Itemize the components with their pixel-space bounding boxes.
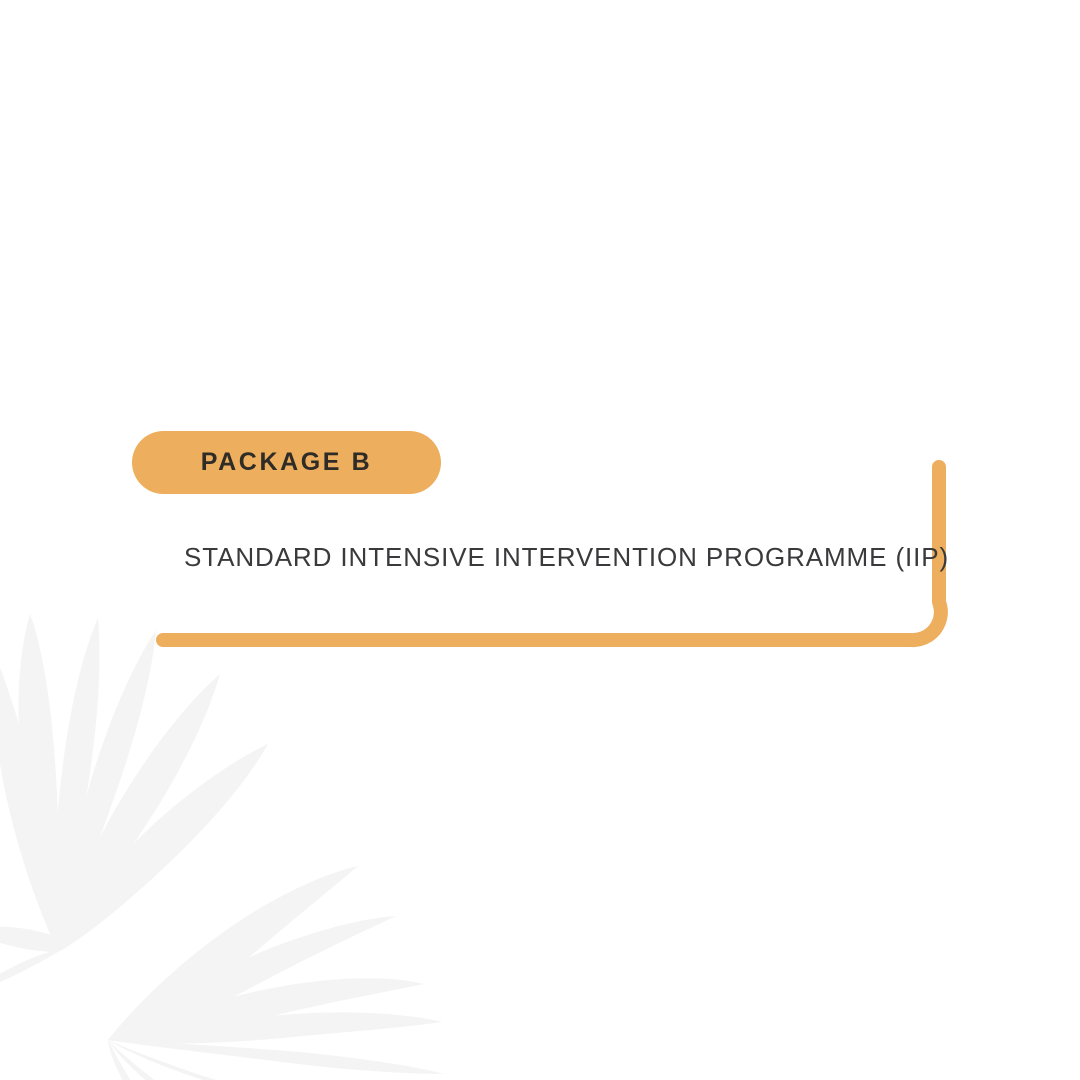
package-badge-label: PACKAGE B <box>201 450 373 475</box>
palm-leaf-watermark <box>0 600 560 1080</box>
palm-frond-lower <box>108 866 444 1080</box>
package-badge[interactable]: PACKAGE B <box>132 431 441 494</box>
palm-leaf-svg <box>0 600 560 1080</box>
programme-title: STANDARD INTENSIVE INTERVENTION PROGRAMM… <box>184 541 944 575</box>
slide-canvas: PACKAGE B STANDARD INTENSIVE INTERVENTIO… <box>0 0 1080 1080</box>
palm-frond-upper <box>0 614 268 992</box>
